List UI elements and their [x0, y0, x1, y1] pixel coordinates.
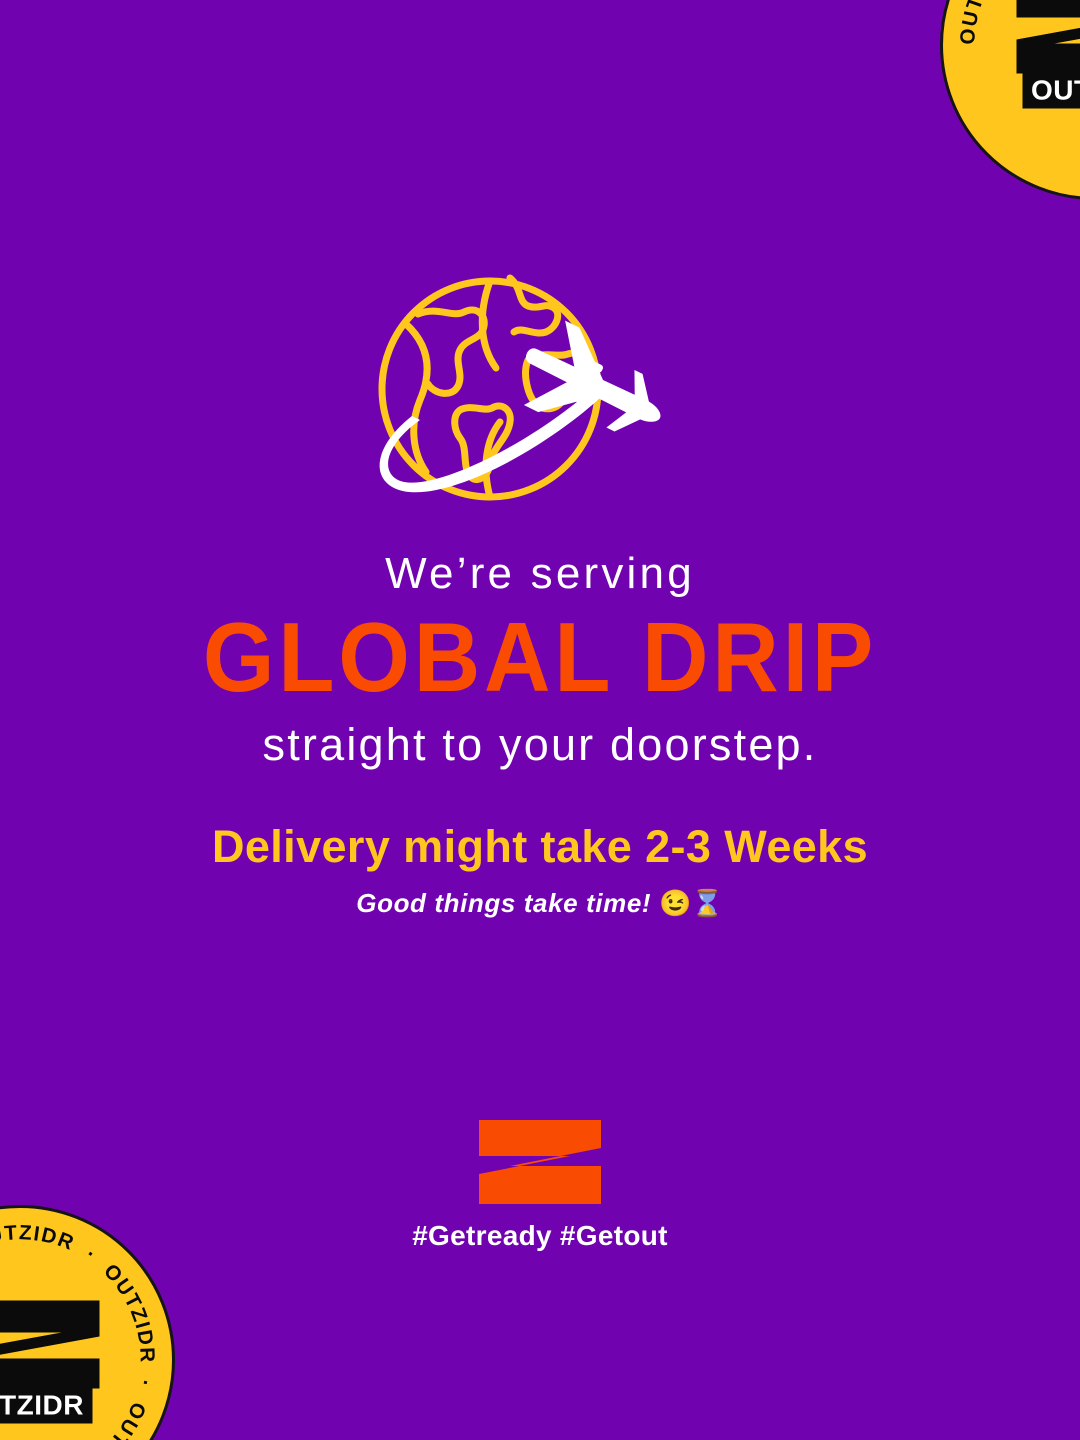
stamp-core-top-right: OUTZIDR [998, 0, 1080, 109]
headline-bigword: GLOBAL DRIP [32, 606, 1047, 710]
brand-stamp-top-right: OUTZIDR · OUTZIDR · OUTZIDR · OUTZIDR · … [940, 0, 1080, 200]
stamp-center-wordmark: OUTZIDR [0, 1389, 93, 1424]
outzidr-z-logo-icon [477, 1118, 603, 1206]
headline-block: We’re serving GLOBAL DRIP straight to yo… [0, 548, 1080, 772]
delivery-time-text: Delivery might take 2-3 Weeks [0, 820, 1080, 874]
delivery-subtext-label: Good things take time! [356, 888, 651, 918]
wink-face-and-hourglass-emoji: 😉⌛ [659, 888, 724, 918]
stamp-center-wordmark: OUTZIDR [1022, 74, 1080, 109]
globe-airplane-artwork [0, 262, 1080, 512]
headline-kicker: We’re serving [0, 548, 1080, 600]
headline-subline: straight to your doorstep. [0, 718, 1080, 772]
delivery-subtext: Good things take time! 😉⌛ [0, 888, 1080, 919]
poster-canvas: OUTZIDR · OUTZIDR · OUTZIDR · OUTZIDR · … [0, 0, 1080, 1440]
outzidr-z-logo-icon [0, 1297, 105, 1393]
stamp-core-bottom-left: OUTZIDR [0, 1297, 118, 1424]
outzidr-z-logo-icon [1010, 0, 1080, 78]
footer-hashtags: #Getready #Getout [412, 1220, 668, 1252]
delivery-notice-block: Delivery might take 2-3 Weeks Good thing… [0, 820, 1080, 919]
footer-brand-block: #Getready #Getout [0, 1118, 1080, 1252]
